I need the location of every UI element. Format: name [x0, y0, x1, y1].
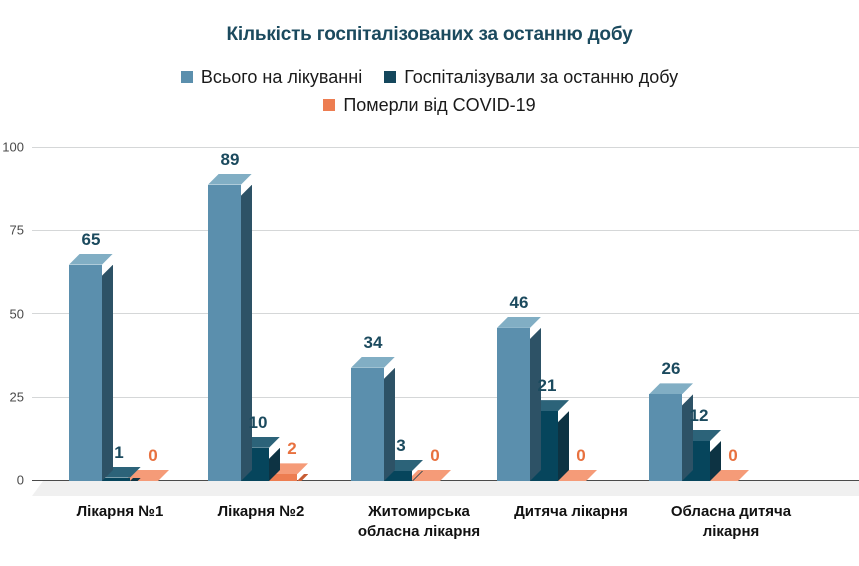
- legend-label: Померли від COVID-19: [343, 91, 535, 119]
- y-tick-label: 0: [17, 473, 24, 488]
- chart-legend: Всього на лікуванні Госпіталізували за о…: [0, 63, 859, 119]
- bar-column[interactable]: [497, 317, 530, 481]
- legend-row-1: Всього на лікуванні Госпіталізували за о…: [0, 63, 859, 91]
- bar-front-face: [69, 265, 102, 481]
- bar-side-face: [102, 265, 113, 481]
- x-axis-category-labels: Лікарня №1Лікарня №2Житомирська обласна …: [32, 502, 859, 562]
- bar-value-label: 2: [287, 439, 296, 459]
- bar-side-face: [384, 368, 395, 481]
- chart-title: Кількість госпіталізованих за останню до…: [0, 24, 859, 46]
- bar-top-face: [407, 470, 451, 481]
- bar-top-face: [497, 317, 541, 328]
- bar-side-face: [241, 185, 252, 481]
- legend-label: Госпіталізували за останню добу: [404, 63, 678, 91]
- bar-column[interactable]: [208, 174, 241, 481]
- bar-value-label: 1: [114, 443, 123, 463]
- bar-top-face: [351, 357, 395, 368]
- bar-value-label: 21: [538, 376, 557, 396]
- bar-top-face: [69, 254, 113, 265]
- bar-front-face: [208, 185, 241, 481]
- bar-value-label: 0: [728, 446, 737, 466]
- chart-floor-plane: [32, 481, 859, 496]
- bar-side-face: [297, 474, 308, 481]
- y-tick-label: 50: [10, 306, 24, 321]
- bar-value-label: 3: [396, 436, 405, 456]
- bar-value-label: 0: [148, 446, 157, 466]
- bar-value-label: 10: [249, 413, 268, 433]
- bar-top-face: [208, 174, 252, 185]
- legend-item-total-treated[interactable]: Всього на лікуванні: [181, 63, 362, 91]
- bar-series-container: 01652108903340214601226: [32, 147, 859, 481]
- bar-value-label: 26: [662, 359, 681, 379]
- legend-swatch-icon: [323, 99, 335, 111]
- legend-label: Всього на лікуванні: [201, 63, 362, 91]
- bar-side-face: [530, 328, 541, 481]
- y-tick-label: 25: [10, 389, 24, 404]
- y-tick-label: 75: [10, 223, 24, 238]
- y-tick-label: 100: [2, 140, 24, 155]
- bar-value-label: 65: [82, 230, 101, 250]
- legend-swatch-icon: [384, 71, 396, 83]
- x-axis-category-label: Лікарня №2: [186, 502, 336, 522]
- x-axis-category-label: Обласна дитяча лікарня: [651, 502, 811, 542]
- bar-chart: Кількість госпіталізованих за останню до…: [0, 0, 859, 566]
- bar-top-face: [649, 383, 693, 394]
- x-axis-category-label: Лікарня №1: [45, 502, 195, 522]
- x-axis-category-label: Дитяча лікарня: [491, 502, 651, 522]
- legend-row-2: Померли від COVID-19: [0, 91, 859, 119]
- x-axis-category-label: Житомирська обласна лікарня: [344, 502, 494, 542]
- bar-front-face: [497, 328, 530, 481]
- bar-front-face: [351, 368, 384, 481]
- y-axis-tick-labels: 100 75 50 25 0: [0, 147, 30, 480]
- bar-front-face: [649, 394, 682, 481]
- legend-item-covid-deaths[interactable]: Померли від COVID-19: [323, 91, 535, 119]
- bar-value-label: 89: [221, 150, 240, 170]
- bar-side-face: [558, 411, 569, 481]
- bar-value-label: 0: [576, 446, 585, 466]
- bar-value-label: 0: [430, 446, 439, 466]
- bar-value-label: 34: [364, 333, 383, 353]
- legend-item-hospitalized-last-day[interactable]: Госпіталізували за останню добу: [384, 63, 678, 91]
- bar-column[interactable]: [649, 383, 682, 481]
- bar-value-label: 12: [690, 406, 709, 426]
- bar-column[interactable]: [351, 357, 384, 481]
- bar-column[interactable]: [69, 254, 102, 481]
- bar-value-label: 46: [510, 293, 529, 313]
- legend-swatch-icon: [181, 71, 193, 83]
